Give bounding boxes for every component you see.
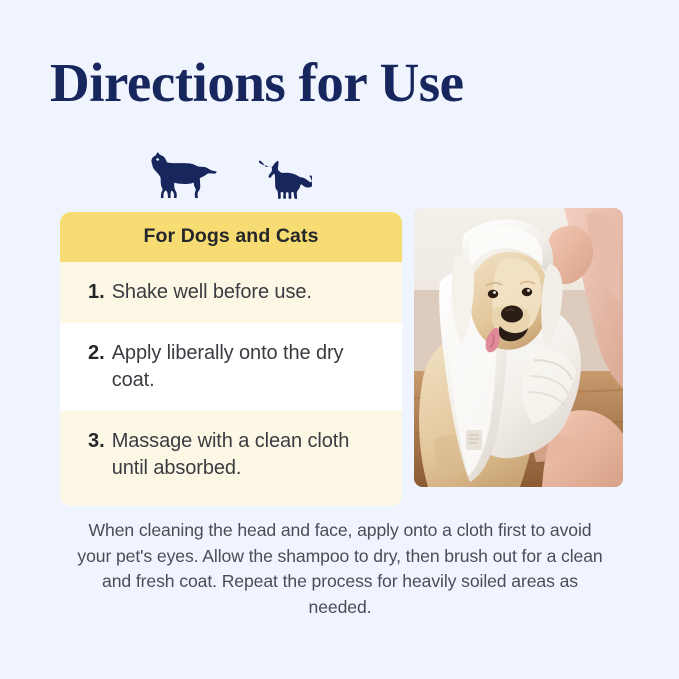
footer-note-text: When cleaning the head and face, apply o… xyxy=(72,518,608,620)
step-text: Massage with a clean cloth until absorbe… xyxy=(112,428,386,482)
card-header-label: For Dogs and Cats xyxy=(60,212,402,262)
instructions-card: For Dogs and Cats 1. Shake well before u… xyxy=(60,212,402,506)
step-number: 3. xyxy=(88,428,105,455)
step-text: Shake well before use. xyxy=(112,279,312,306)
dog-with-towel-photo xyxy=(414,208,623,487)
cat-silhouette-icon xyxy=(250,160,312,200)
page-title: Directions for Use xyxy=(50,52,464,114)
list-item: 3. Massage with a clean cloth until abso… xyxy=(60,411,402,506)
step-number: 2. xyxy=(88,340,105,367)
list-item: 1. Shake well before use. xyxy=(60,262,402,323)
directions-for-use-page: Directions for Use For Dogs and Cats 1. … xyxy=(0,0,679,679)
pet-icon-row xyxy=(140,148,340,204)
steps-list: 1. Shake well before use. 2. Apply liber… xyxy=(60,262,402,506)
step-number: 1. xyxy=(88,279,105,306)
list-item: 2. Apply liberally onto the dry coat. xyxy=(60,323,402,411)
step-text: Apply liberally onto the dry coat. xyxy=(112,340,386,394)
dog-silhouette-icon xyxy=(145,152,217,198)
